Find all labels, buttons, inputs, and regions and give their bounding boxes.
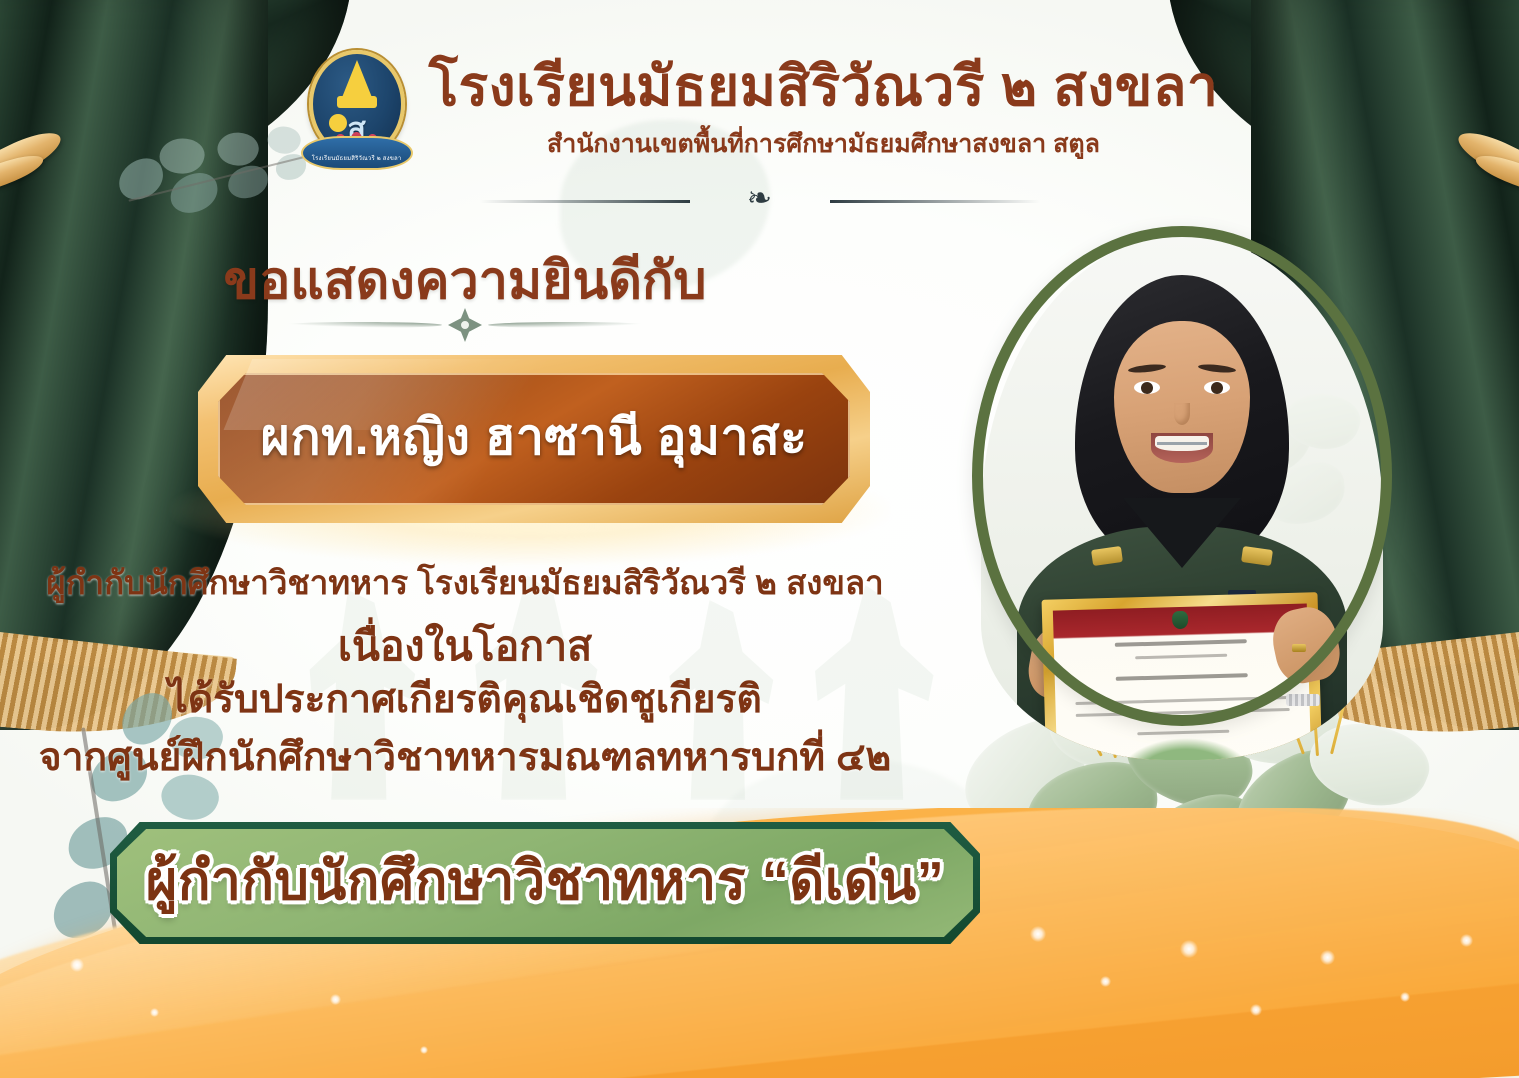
emblem-banner-text: โรงเรียนมัธยมสิริวัณวรี ๒ สงขลา bbox=[301, 153, 413, 163]
award-title: ผู้กำกับนักศึกษาวิชาทหาร “ดีเด่น” bbox=[110, 822, 980, 944]
school-emblem-icon: ส โรงเรียนมัธยมสิริวัณวรี ๒ สงขลา bbox=[301, 48, 413, 174]
honoree-position: ผู้กำกับนักศึกษาวิชาทหาร โรงเรียนมัธยมสิ… bbox=[0, 556, 930, 609]
poster-header: ส โรงเรียนมัธยมสิริวัณวรี ๒ สงขลา โรงเรี… bbox=[0, 48, 1519, 214]
award-banner: ผู้กำกับนักศึกษาวิชาทหาร “ดีเด่น” bbox=[110, 822, 980, 944]
achievement-line-1: ได้รับประกาศเกียรติคุณเชิดชูเกียรติ bbox=[0, 668, 930, 730]
honoree-name-plaque: ผกท.หญิง ฮาซานี อุมาสะ bbox=[198, 355, 870, 523]
school-name-title: โรงเรียนมัธยมสิริวัณวรี ๒ สงขลา bbox=[429, 58, 1219, 116]
header-divider: ❧ bbox=[480, 188, 1040, 214]
congratulation-divider bbox=[0, 308, 930, 342]
education-office-subtitle: สำนักงานเขตพื้นที่การศึกษามัธยมศึกษาสงขล… bbox=[429, 124, 1219, 164]
congratulations-poster: ส โรงเรียนมัธยมสิริวัณวรี ๒ สงขลา โรงเรี… bbox=[0, 0, 1519, 1078]
honoree-photo: ฮาซานี อุมาสะ ศฝ bbox=[972, 226, 1392, 726]
divider-ornament-icon: ❧ bbox=[747, 184, 772, 214]
honoree-name: ผกท.หญิง ฮาซานี อุมาสะ bbox=[198, 355, 870, 523]
photo-oval-ring bbox=[972, 226, 1392, 726]
quatrefoil-ornament-icon bbox=[448, 308, 482, 342]
achievement-line-2: จากศูนย์ฝึกนักศึกษาวิชาทหารมณฑลทหารบกที่… bbox=[0, 726, 930, 788]
